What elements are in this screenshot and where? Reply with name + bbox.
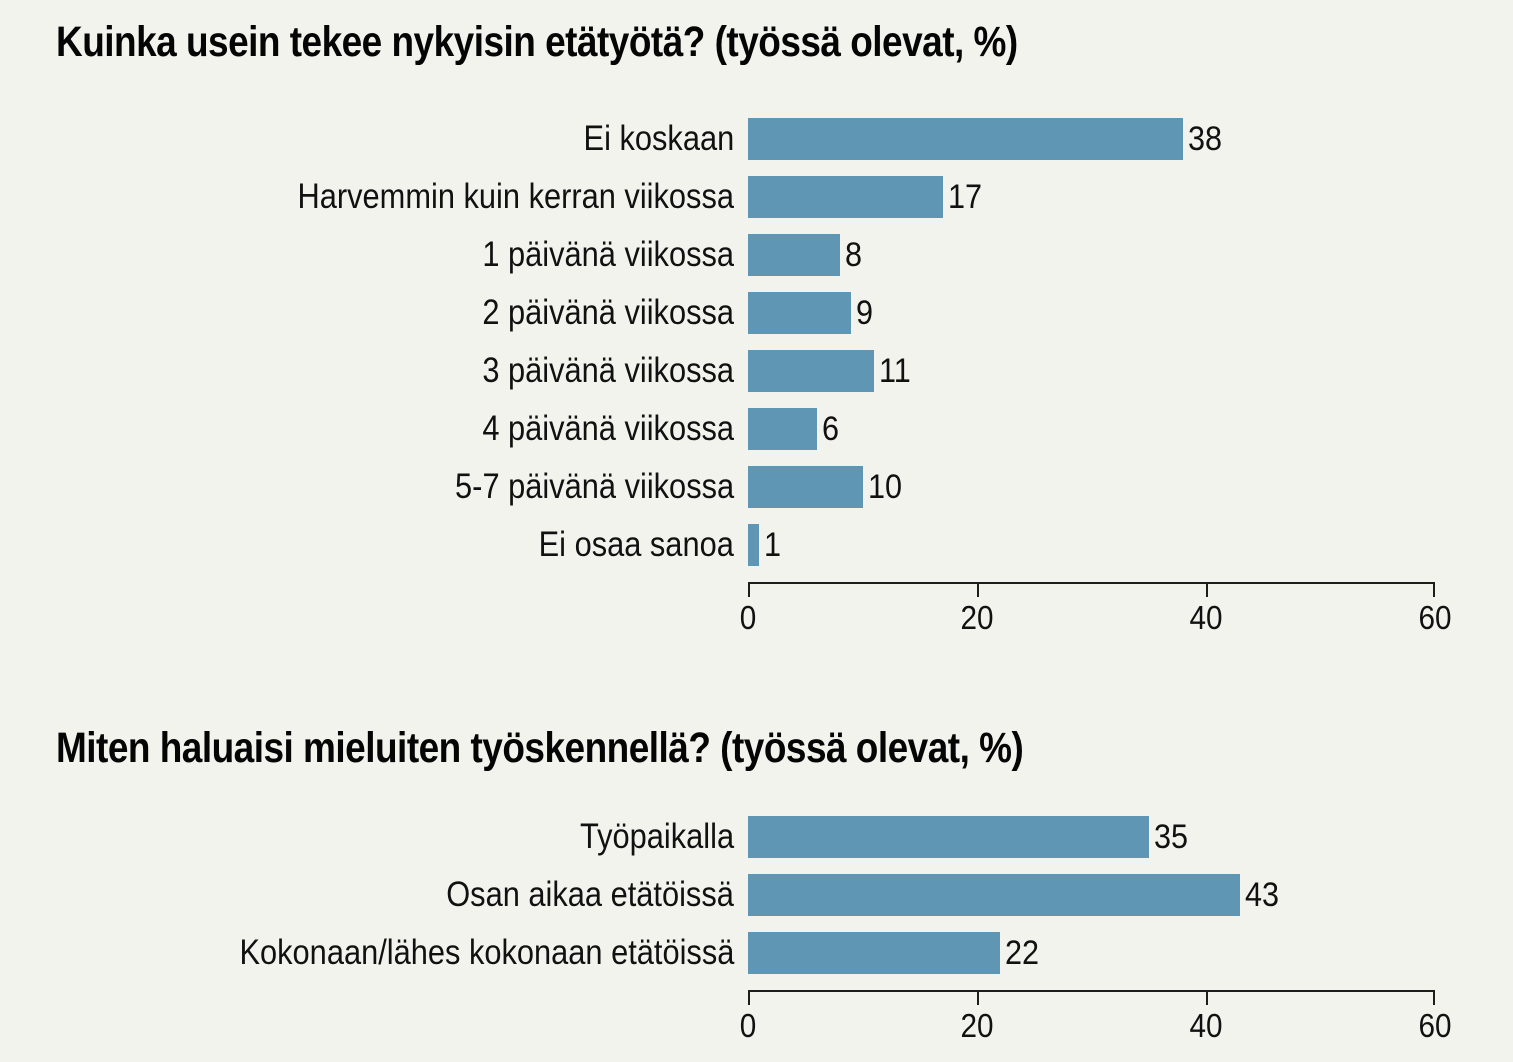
chart-1: Ei koskaan38Harvemmin kuin kerran viikos… xyxy=(0,118,1513,638)
bar-row: 3 päivänä viikossa11 xyxy=(0,350,1513,408)
bar-value-label: 43 xyxy=(1245,874,1279,916)
bar-and-value: 11 xyxy=(748,350,914,392)
bar-and-value: 17 xyxy=(748,176,985,218)
chart-2-bar-rows: Työpaikalla35Osan aikaa etätöissä43Kokon… xyxy=(0,816,1513,990)
chart-1-bar-rows: Ei koskaan38Harvemmin kuin kerran viikos… xyxy=(0,118,1513,582)
axis-tick xyxy=(977,990,979,1005)
axis-line xyxy=(748,582,1435,584)
bar xyxy=(748,292,851,334)
bar-and-value: 10 xyxy=(748,466,905,508)
bar xyxy=(748,408,817,450)
bar-and-value: 22 xyxy=(748,932,1043,974)
axis-tick xyxy=(977,582,979,597)
chart-page: Kuinka usein tekee nykyisin etätyötä? (t… xyxy=(0,0,1513,1062)
chart-2-title: Miten haluaisi mieluiten työskennellä? (… xyxy=(56,724,1023,772)
bar-and-value: 38 xyxy=(748,118,1226,160)
bar xyxy=(748,932,1000,974)
bar-row: 2 päivänä viikossa9 xyxy=(0,292,1513,350)
bar-category-label: 3 päivänä viikossa xyxy=(482,350,734,392)
axis-tick xyxy=(1433,990,1435,1005)
bar-and-value: 8 xyxy=(748,234,864,276)
bar-value-label: 38 xyxy=(1188,118,1222,160)
bar-row: 1 päivänä viikossa8 xyxy=(0,234,1513,292)
bar-category-label: Työpaikalla xyxy=(580,816,734,858)
axis-line xyxy=(748,990,1435,992)
bar-row: Ei osaa sanoa1 xyxy=(0,524,1513,582)
bar-value-label: 10 xyxy=(868,466,902,508)
axis-tick xyxy=(1433,582,1435,597)
bar-and-value: 6 xyxy=(748,408,841,450)
bar-value-label: 6 xyxy=(822,408,839,450)
bar-and-value: 1 xyxy=(748,524,783,566)
bar-value-label: 1 xyxy=(764,524,781,566)
bar-value-label: 17 xyxy=(948,176,982,218)
chart-1-x-axis: 0204060 xyxy=(748,582,1435,642)
bar-row: Harvemmin kuin kerran viikossa17 xyxy=(0,176,1513,234)
axis-tick-label: 60 xyxy=(1418,600,1451,636)
bar-row: Ei koskaan38 xyxy=(0,118,1513,176)
axis-tick xyxy=(1206,582,1208,597)
axis-tick xyxy=(1206,990,1208,1005)
bar-row: 5-7 päivänä viikossa10 xyxy=(0,466,1513,524)
axis-tick-label: 60 xyxy=(1418,1008,1451,1044)
bar xyxy=(748,874,1240,916)
bar-and-value: 9 xyxy=(748,292,875,334)
chart-1-title: Kuinka usein tekee nykyisin etätyötä? (t… xyxy=(56,18,1018,66)
axis-tick-label: 40 xyxy=(1189,600,1222,636)
axis-tick-label: 20 xyxy=(960,1008,993,1044)
bar-value-label: 8 xyxy=(845,234,862,276)
bar-category-label: Harvemmin kuin kerran viikossa xyxy=(298,176,734,218)
axis-tick xyxy=(748,990,750,1005)
bar-row: Osan aikaa etätöissä43 xyxy=(0,874,1513,932)
bar-category-label: 2 päivänä viikossa xyxy=(482,292,734,334)
bar-row: 4 päivänä viikossa6 xyxy=(0,408,1513,466)
bar xyxy=(748,234,840,276)
bar xyxy=(748,350,874,392)
axis-tick-label: 40 xyxy=(1189,1008,1222,1044)
chart-2-x-axis: 0204060 xyxy=(748,990,1435,1050)
bar-row: Työpaikalla35 xyxy=(0,816,1513,874)
bar xyxy=(748,118,1183,160)
bar-category-label: 4 päivänä viikossa xyxy=(482,408,734,450)
bar-value-label: 35 xyxy=(1154,816,1188,858)
bar-row: Kokonaan/lähes kokonaan etätöissä22 xyxy=(0,932,1513,990)
axis-tick-label: 0 xyxy=(740,1008,757,1044)
bar xyxy=(748,176,943,218)
bar-value-label: 11 xyxy=(879,350,911,392)
bar-category-label: 5-7 päivänä viikossa xyxy=(455,466,734,508)
bar xyxy=(748,816,1149,858)
bar-and-value: 35 xyxy=(748,816,1192,858)
bar-and-value: 43 xyxy=(748,874,1283,916)
bar-category-label: Ei koskaan xyxy=(583,118,734,160)
bar-value-label: 22 xyxy=(1005,932,1039,974)
bar-category-label: Kokonaan/lähes kokonaan etätöissä xyxy=(239,932,734,974)
axis-tick-label: 20 xyxy=(960,600,993,636)
axis-tick-label: 0 xyxy=(740,600,757,636)
bar-category-label: Ei osaa sanoa xyxy=(539,524,734,566)
bar-category-label: 1 päivänä viikossa xyxy=(482,234,734,276)
bar-category-label: Osan aikaa etätöissä xyxy=(446,874,734,916)
axis-tick xyxy=(748,582,750,597)
bar xyxy=(748,466,863,508)
bar xyxy=(748,524,759,566)
bar-value-label: 9 xyxy=(856,292,873,334)
chart-2: Työpaikalla35Osan aikaa etätöissä43Kokon… xyxy=(0,816,1513,1062)
